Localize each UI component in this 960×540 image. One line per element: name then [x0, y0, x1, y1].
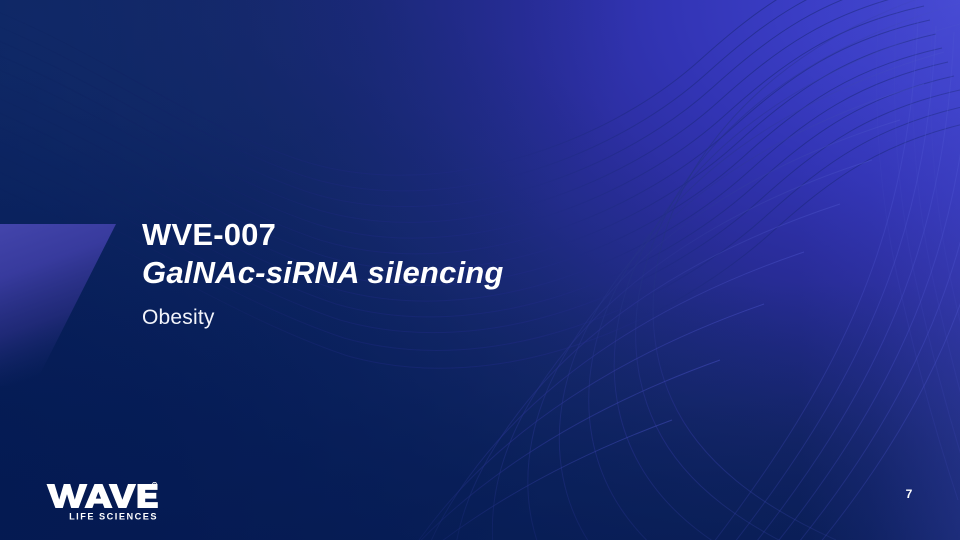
page-number: 7 — [898, 486, 920, 502]
indication-label: Obesity — [142, 305, 782, 331]
slide-canvas: WVE-007 GalNAc-siRNA silencing Obesity R… — [0, 0, 960, 540]
logo-tagline: LIFE SCIENCES — [69, 511, 158, 521]
page-title: WVE-007 — [142, 216, 782, 254]
title-block: WVE-007 GalNAc-siRNA silencing Obesity — [142, 216, 782, 331]
wave-life-sciences-logo: R LIFE SCIENCES — [46, 482, 158, 522]
accent-shape-icon — [0, 224, 116, 386]
page-subtitle-emphasis: GalNAc-siRNA silencing — [142, 254, 782, 292]
